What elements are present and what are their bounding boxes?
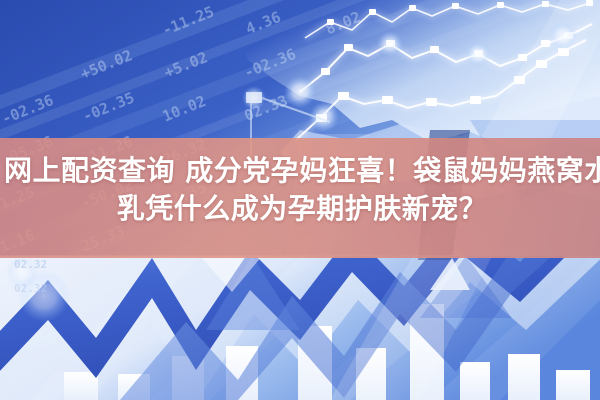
svg-text:02.32: 02.32	[14, 258, 47, 271]
svg-text:02.32: 02.32	[14, 282, 47, 295]
salmon-overlay-band	[0, 138, 600, 258]
promo-banner: -02.36 +50.02 -11.25 45.02 21.06 -05.36 …	[0, 0, 600, 400]
